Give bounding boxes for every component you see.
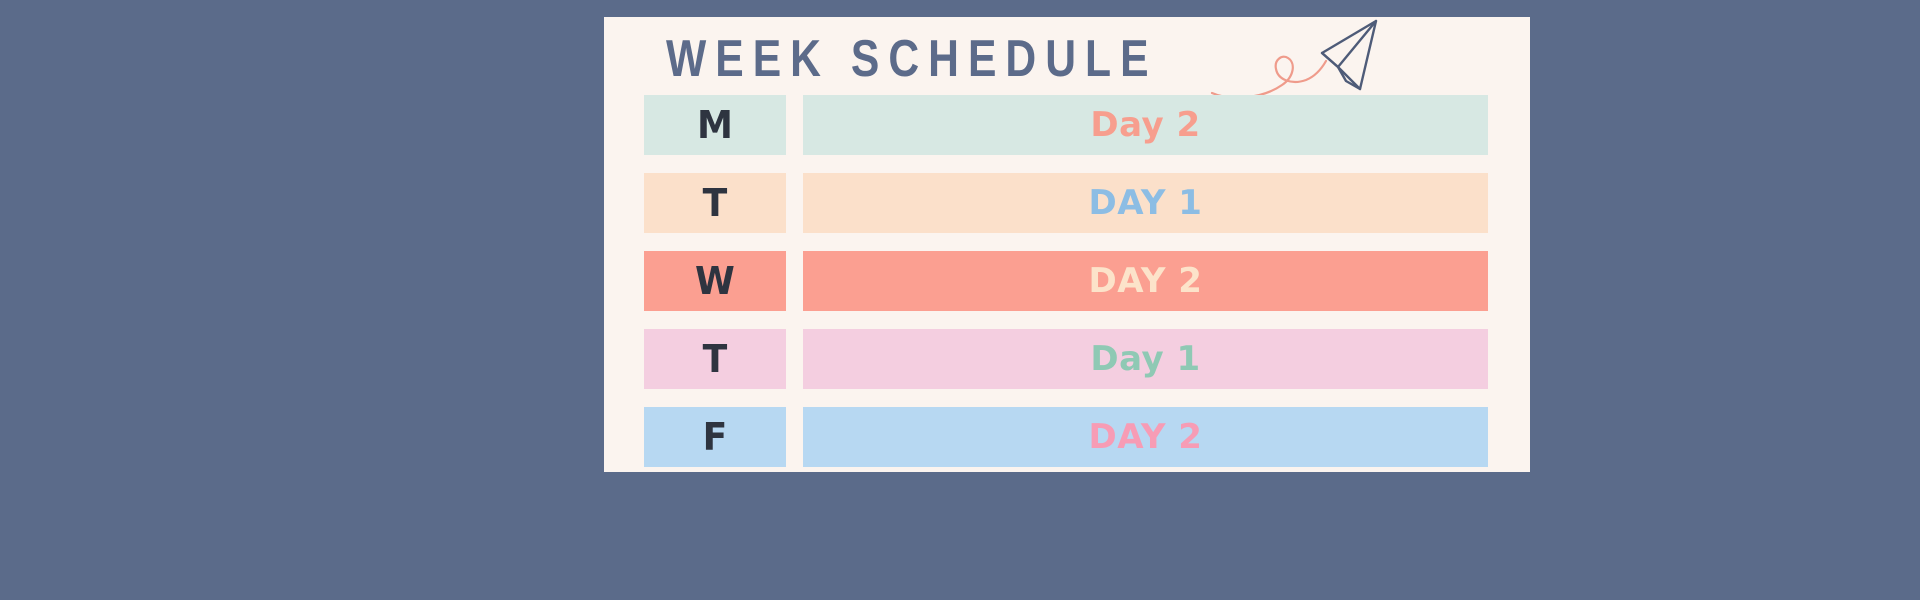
content-cell-3[interactable]: DAY 2 [803, 251, 1488, 311]
schedule-page: WEEK SCHEDULE M Day 2 [0, 0, 1920, 600]
content-cell-2[interactable]: DAY 1 [803, 173, 1488, 233]
table-row[interactable]: W DAY 2 [604, 251, 1530, 311]
card-header: WEEK SCHEDULE [604, 17, 1530, 95]
content-label: DAY 1 [1089, 186, 1203, 220]
content-cell-4[interactable]: Day 1 [803, 329, 1488, 389]
day-letter: F [703, 418, 728, 456]
day-cell-2[interactable]: T [644, 173, 786, 233]
content-label: DAY 2 [1089, 264, 1203, 298]
content-label: Day 1 [1090, 342, 1200, 376]
week-schedule-card: WEEK SCHEDULE M Day 2 [604, 17, 1530, 472]
swirl-trail-icon [1212, 57, 1326, 98]
table-row[interactable]: T DAY 1 [604, 173, 1530, 233]
content-label: DAY 2 [1089, 420, 1203, 454]
content-cell-5[interactable]: DAY 2 [803, 407, 1488, 467]
page-title: WEEK SCHEDULE [666, 33, 1158, 85]
day-cell-1[interactable]: M [644, 95, 786, 155]
day-cell-3[interactable]: W [644, 251, 786, 311]
table-row[interactable]: T Day 1 [604, 329, 1530, 389]
content-cell-1[interactable]: Day 2 [803, 95, 1488, 155]
day-cell-5[interactable]: F [644, 407, 786, 467]
day-letter: T [703, 184, 728, 222]
schedule-rows: M Day 2 T DAY 1 W [604, 95, 1530, 472]
day-letter: M [697, 106, 733, 144]
content-label: Day 2 [1090, 108, 1200, 142]
table-row[interactable]: F DAY 2 [604, 407, 1530, 467]
table-row[interactable]: M Day 2 [604, 95, 1530, 155]
day-letter: W [695, 262, 735, 300]
day-cell-4[interactable]: T [644, 329, 786, 389]
day-letter: T [703, 340, 728, 378]
paper-plane-icon [1210, 19, 1390, 101]
